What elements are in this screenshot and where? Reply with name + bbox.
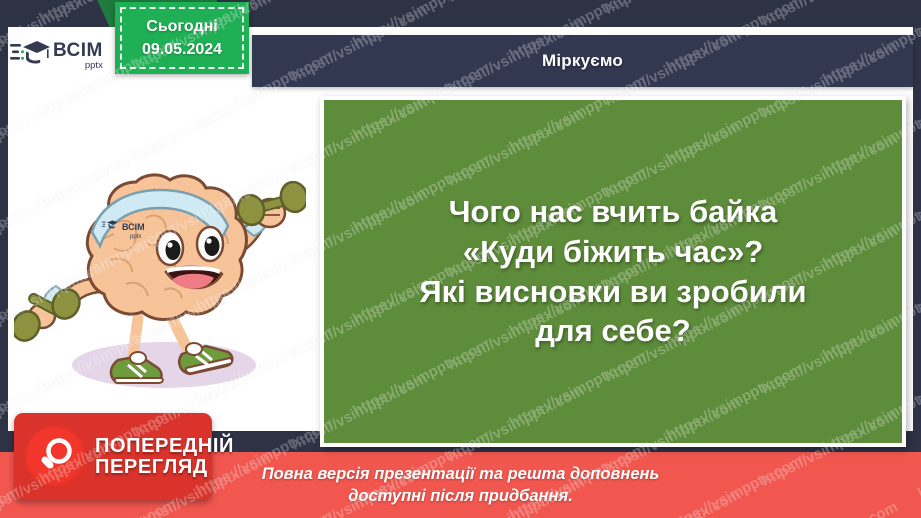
svg-text:ВСІМ: ВСІМ bbox=[122, 222, 145, 232]
question-line-3: Які висновки ви зробили bbox=[419, 272, 806, 312]
preview-badge: ПОПЕРЕДНІЙ ПЕРЕГЛЯД bbox=[14, 413, 212, 500]
brain-illustration: ВСІМ pptx bbox=[14, 168, 306, 404]
today-label: Сьогодні bbox=[146, 15, 217, 38]
question-line-2: «Куди біжить час»? bbox=[419, 232, 806, 272]
today-date: 09.05.2024 bbox=[142, 38, 222, 61]
page-title: Міркуємо bbox=[542, 51, 623, 71]
preview-badge-line-2: ПЕРЕГЛЯД bbox=[95, 457, 234, 477]
brand-logo-text: ВСІМ pptx bbox=[53, 41, 103, 71]
magnifier-icon bbox=[25, 426, 87, 488]
question-line-1: Чого нас вчить байка bbox=[419, 192, 806, 232]
brand-logo-main: ВСІМ bbox=[53, 41, 103, 60]
purchase-notice-line-1: Повна версія презентації та решта доповн… bbox=[262, 463, 660, 485]
question-text: Чого нас вчить байка «Куди біжить час»? … bbox=[405, 192, 820, 351]
question-line-4: для себе? bbox=[419, 311, 806, 351]
preview-badge-text: ПОПЕРЕДНІЙ ПЕРЕГЛЯД bbox=[95, 436, 234, 477]
svg-text:pptx: pptx bbox=[130, 234, 141, 240]
slide-header-bar: Міркуємо bbox=[252, 35, 913, 87]
preview-badge-line-1: ПОПЕРЕДНІЙ bbox=[95, 436, 234, 456]
graduation-cap-icon bbox=[10, 38, 50, 73]
today-date-badge: Сьогодні 09.05.2024 bbox=[115, 2, 249, 74]
brand-logo[interactable]: ВСІМ pptx bbox=[10, 33, 98, 78]
purchase-notice-line-2: доступні після придбання. bbox=[348, 485, 573, 507]
slide-root: ВСІМ pptx Сьогодні 09.05.2024 Міркуємо bbox=[0, 0, 921, 518]
brand-logo-sub: pptx bbox=[85, 61, 103, 71]
question-content-box: Чого нас вчить байка «Куди біжить час»? … bbox=[320, 96, 906, 447]
